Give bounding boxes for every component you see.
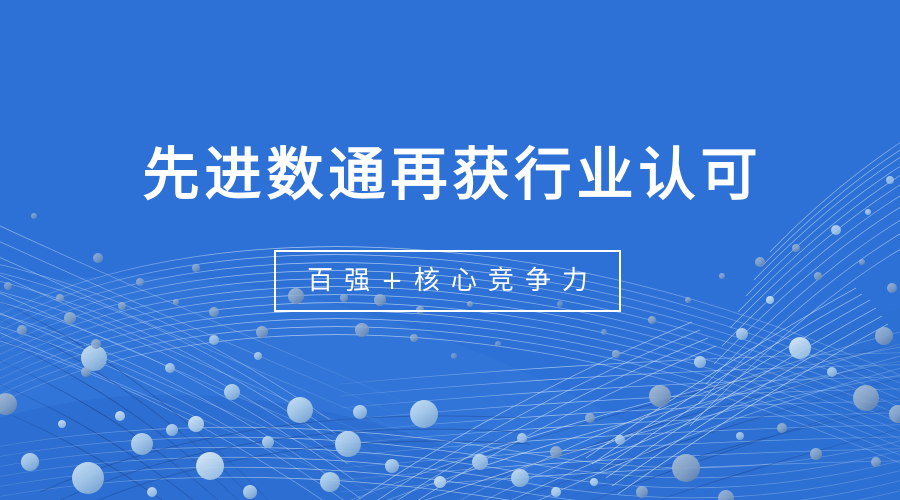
banner-content: 先进数通再获行业认可 百强+核心竞争力 <box>0 0 900 500</box>
subtitle-frame: 百强+核心竞争力 <box>274 250 621 312</box>
subtitle-label: 百强+核心竞争力 <box>296 266 599 296</box>
page-title: 先进数通再获行业认可 <box>0 139 900 211</box>
promotional-banner: 先进数通再获行业认可 百强+核心竞争力 <box>0 0 900 500</box>
